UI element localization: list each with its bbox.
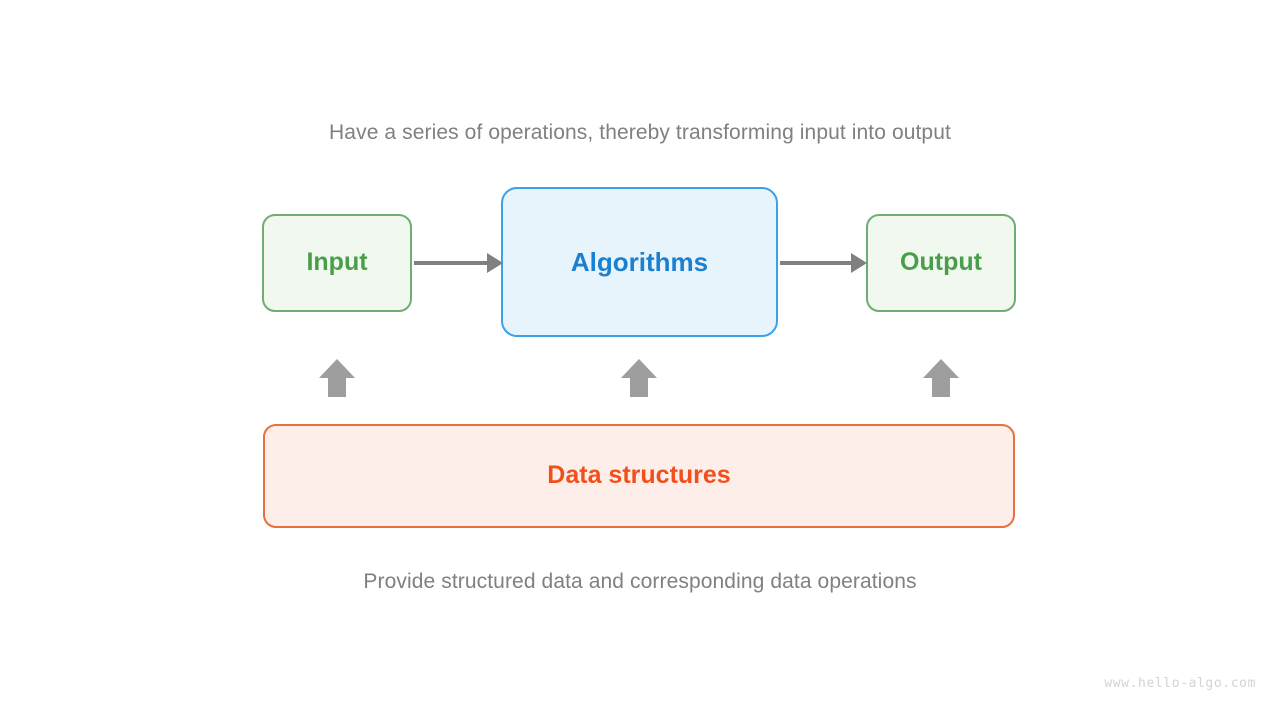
node-algorithms[interactable]: Algorithms	[501, 187, 778, 337]
node-data-structures[interactable]: Data structures	[263, 424, 1015, 528]
top-caption: Have a series of operations, thereby tra…	[0, 121, 1280, 145]
watermark: www.hello-algo.com	[1104, 676, 1256, 691]
node-input[interactable]: Input	[262, 214, 412, 312]
arrow-datastructures-to-algorithms	[621, 359, 657, 397]
arrow-datastructures-to-input	[319, 359, 355, 397]
node-algorithms-label: Algorithms	[571, 248, 708, 277]
node-input-label: Input	[306, 249, 367, 277]
arrow-algorithms-to-output	[780, 253, 867, 273]
arrow-input-to-algorithms	[414, 253, 503, 273]
node-output[interactable]: Output	[866, 214, 1016, 312]
diagram-canvas: Have a series of operations, thereby tra…	[0, 0, 1280, 720]
arrow-datastructures-to-output	[923, 359, 959, 397]
node-output-label: Output	[900, 249, 982, 277]
connector-layer	[0, 0, 1280, 720]
node-data-structures-label: Data structures	[547, 462, 730, 490]
bottom-caption: Provide structured data and correspondin…	[0, 570, 1280, 594]
